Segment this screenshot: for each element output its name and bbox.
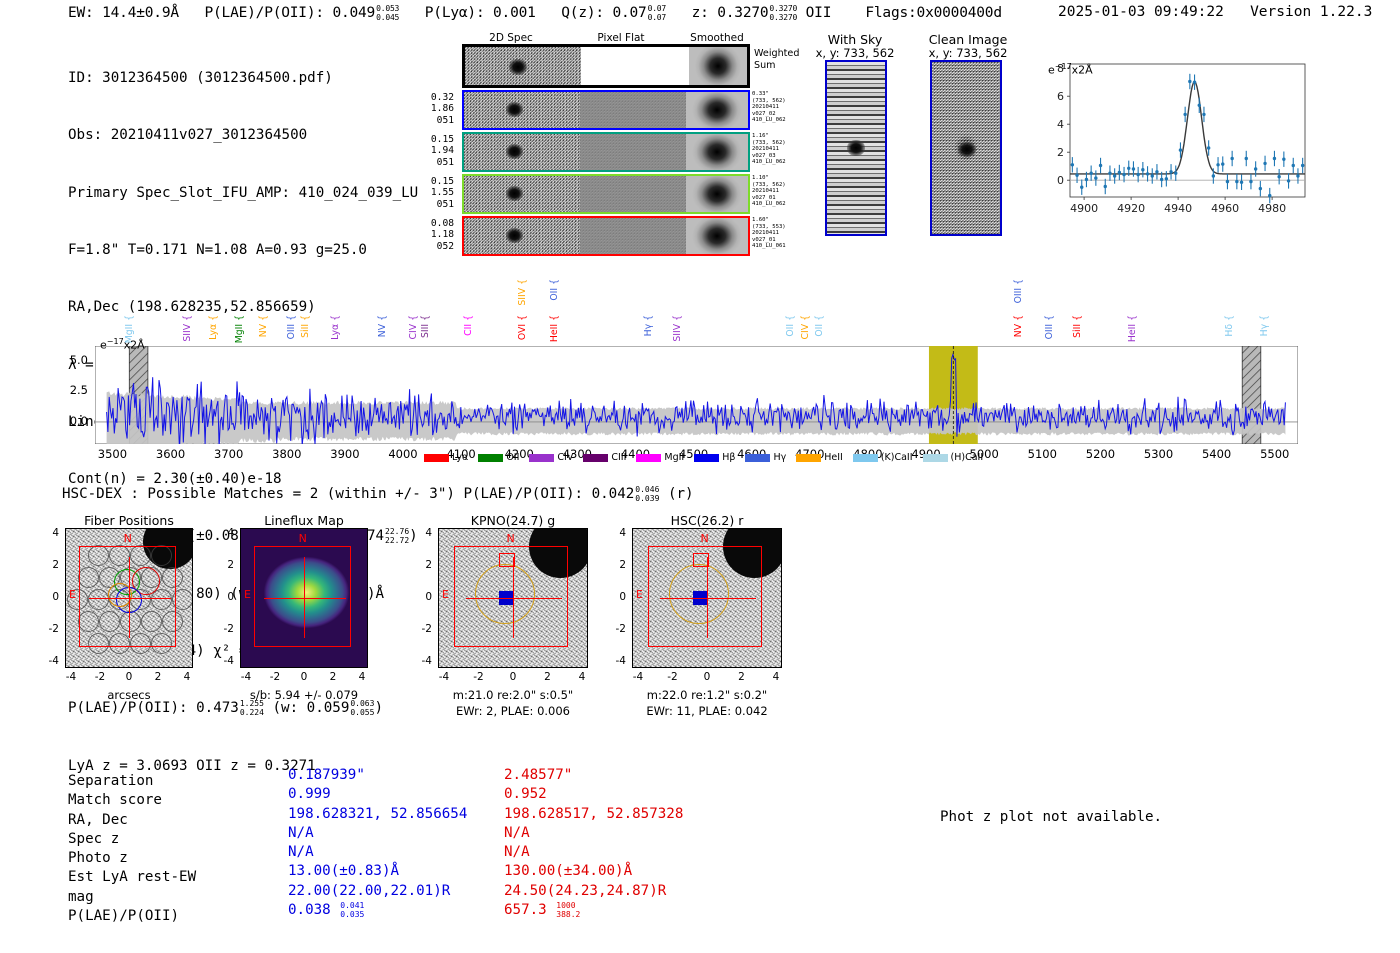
match1-value-6: 22.00(22.00,22.01)R (288, 882, 450, 901)
spec2d-title-smoothed: Smoothed (672, 32, 762, 44)
spectrum-xtick: 5300 (1133, 447, 1185, 461)
match1-value-4: N/A (288, 843, 314, 862)
svg-text:4900: 4900 (1070, 202, 1098, 215)
spectrum-xtick: 3500 (86, 447, 138, 461)
svg-text:4960: 4960 (1211, 202, 1239, 215)
legend-label: CIV (557, 452, 573, 463)
panel-1-xtick: -2 (259, 671, 291, 683)
emission-label-MgII: MgII { (234, 315, 245, 343)
emission-label-NV: NV { (258, 315, 269, 337)
spec2d-weighted-sum-label: Weighted Sum (754, 48, 799, 71)
panel-2-ytick: 2 (408, 559, 432, 571)
panel-2-xtick: 0 (497, 671, 529, 683)
panel-0-xtick: 2 (142, 671, 174, 683)
match2-value-3: N/A (504, 824, 530, 843)
legend-item-HeII: HeII (796, 452, 843, 463)
emission-label-SIIV: SIIV { (182, 315, 193, 342)
svg-text:2: 2 (1057, 146, 1064, 159)
match1-value-0: 0.187939" (288, 766, 365, 785)
match-label-6: mag (68, 888, 94, 907)
legend-label: Hγ (773, 452, 786, 463)
panel-0-xtick: 4 (171, 671, 203, 683)
legend-item-CIII: CIII (583, 452, 626, 463)
match2-value-4: N/A (504, 843, 530, 862)
spec2d-row-0-strip[interactable] (462, 90, 750, 130)
match1-value-5: 13.00(±0.83)Å (288, 862, 399, 881)
svg-text:4980: 4980 (1258, 202, 1286, 215)
legend-swatch (424, 454, 449, 462)
legend-item-Ly: Lyα (424, 452, 468, 463)
header-z-type: OII (806, 5, 832, 21)
spectrum-xtick: 5500 (1249, 447, 1301, 461)
spec2d-row-2-strip[interactable] (462, 174, 750, 214)
header-summary-line: EW: 14.4±0.9Å P(LAE)/P(OII): 0.0490.0530… (68, 4, 1002, 22)
emission-label-OII: OII { (785, 315, 796, 337)
legend-label: (H)CaII (951, 452, 984, 463)
match-label-0: Separation (68, 772, 153, 791)
cutout-title-with-sky: With Sky (800, 32, 910, 47)
emission-label-HeII: HeII { (1127, 315, 1138, 342)
panel-title-1: Lineflux Map (216, 513, 392, 528)
spec2d-row-0-left-values: 0.321.86051 (418, 92, 454, 126)
cutout-coords-with-sky: x, y: 733, 562 (800, 46, 910, 60)
legend-label: Lyα (452, 452, 468, 463)
header-plae-value: 0.049 (332, 5, 375, 21)
emission-label-SIII: SIII { (420, 315, 431, 338)
emission-label-Ly: Lyα { (208, 315, 219, 340)
header-flags: Flags:0x0000400d (865, 5, 1001, 21)
legend-swatch (745, 454, 770, 462)
spectrum-ytick: 2.5 (56, 383, 88, 397)
spectrum-xtick: 3700 (203, 447, 255, 461)
spec2d-title-2dspec: 2D Spec (466, 32, 556, 44)
info-plae: P(LAE)/P(OII): 0.4731.2550.224 (w: 0.059… (68, 699, 418, 718)
match2-value-0: 2.48577" (504, 766, 572, 785)
match2-value-5: 130.00(±34.00)Å (504, 862, 632, 881)
svg-text:4920: 4920 (1117, 202, 1145, 215)
panel-3-caption-1: m:22.0 re:1.2" s:0.2" (592, 688, 822, 702)
emission-label-CIV: CIV { (800, 315, 811, 339)
legend-swatch (478, 454, 503, 462)
match-label-5: Est LyA rest-EW (68, 868, 196, 887)
legend-label: Hβ (722, 452, 735, 463)
panel-0-xtick: -4 (55, 671, 87, 683)
panel-1-ytick: -4 (210, 655, 234, 667)
cutout-with-sky-image[interactable] (825, 60, 887, 236)
emission-label-SIIV: SIIV { (672, 315, 683, 342)
legend-label: OII (506, 452, 519, 463)
spec2d-row-3-meta: 1.60"(733, 553)20210411v027_01410_LU_061 (752, 217, 786, 250)
panel-title-2: KPNO(24.7) g (414, 513, 612, 528)
header-plae-lo: 0.045 (376, 13, 399, 22)
info-plae-pre: P(LAE)/P(OII): 0.473 (68, 700, 239, 716)
info-plae-lo: 0.224 (240, 708, 264, 717)
header-ew: EW: 14.4±0.9Å (68, 5, 179, 21)
panel-title-0: Fiber Positions (41, 513, 217, 528)
header-z-hi: 0.3270 (769, 4, 797, 13)
full-spectrum-plot (95, 346, 1298, 444)
panel-1-ytick: -2 (210, 623, 234, 635)
emission-label-CII: CII { (463, 315, 474, 336)
panel-2-ytick: -4 (408, 655, 432, 667)
line-fit-plot: 0246849004920494049604980 (1036, 58, 1311, 223)
panel-image-1[interactable]: NE (240, 528, 368, 668)
spectrum-ytick: 0.0 (56, 414, 88, 428)
emission-label-OIII: OIII { (1044, 315, 1055, 339)
panel-3-xtick: 0 (691, 671, 723, 683)
panel-0-xtick: 0 (113, 671, 145, 683)
spec2d-row-2-meta: 1.10"(733, 562)20210411v027_01410_LU_062 (752, 175, 786, 208)
line-fit-ylabel: e−17x2Å (1048, 62, 1093, 77)
panel-0-ytick: 0 (35, 591, 59, 603)
match2-value-1: 0.952 (504, 785, 547, 804)
legend-swatch (583, 454, 608, 462)
panel-2-ytick: 0 (408, 591, 432, 603)
info-cont-w-lo: 22.72 (385, 536, 409, 545)
match-label-4: Photo z (68, 849, 128, 868)
svg-text:4940: 4940 (1164, 202, 1192, 215)
header-qz-label: Q(z): 0.07 (561, 5, 646, 21)
spec2d-row-3-left-values: 0.081.18052 (418, 218, 454, 252)
spectrum-legend: LyαOIICIVCIIIMgIIHβHγHeII(K)CaII(H)CaII (424, 452, 983, 463)
legend-item-H: Hγ (745, 452, 786, 463)
legend-swatch (529, 454, 554, 462)
spec2d-row-1-left-values: 0.151.94051 (418, 134, 454, 168)
panel-2-xtick: -4 (428, 671, 460, 683)
photz-note: Phot z plot not available. (940, 809, 1162, 825)
emission-label-OIII: OIII { (286, 315, 297, 339)
svg-text:4: 4 (1057, 118, 1064, 131)
panel-3-xtick: -2 (657, 671, 689, 683)
header-plae-hi: 0.053 (376, 4, 399, 13)
panel-2-ytick: 4 (408, 527, 432, 539)
info-seeing: F=1.8" T=0.171 N=1.08 A=0.93 g=25.0 (68, 241, 418, 260)
header-plya: P(Lyα): 0.001 (425, 5, 536, 21)
spec2d-row-0-meta: 0.33"(733, 562)20210411v027_02410_LU_062 (752, 91, 786, 124)
legend-swatch (694, 454, 719, 462)
cutout-title-clean-image: Clean Image (908, 32, 1028, 47)
match1-value-3: N/A (288, 824, 314, 843)
header-qz-lo: 0.07 (648, 13, 666, 22)
emission-label-OIII: OIII { (1013, 279, 1024, 303)
legend-label: HeII (824, 452, 843, 463)
emission-label-OII: OII { (814, 315, 825, 337)
panel-2-xtick: -2 (463, 671, 495, 683)
panel-image-0[interactable]: NE (65, 528, 193, 668)
panel-image-3[interactable]: NE (632, 528, 782, 668)
hsc-dex-post: (r) (668, 486, 694, 502)
legend-swatch (796, 454, 821, 462)
emission-label-OVI: OVI { (517, 315, 528, 340)
info-cont-w-hi: 22.76 (385, 527, 409, 536)
panel-image-2[interactable]: NE (438, 528, 588, 668)
panel-1-xtick: 2 (317, 671, 349, 683)
match2-value-6: 24.50(24.23,24.87)R (504, 882, 666, 901)
spectrum-xtick: 3600 (145, 447, 197, 461)
panel-3-ytick: 2 (602, 559, 626, 571)
panel-0-xtick: -2 (84, 671, 116, 683)
header-z-lo: 0.3270 (769, 13, 797, 22)
spectrum-xtick: 4000 (377, 447, 429, 461)
emission-label-Ly: Lyα { (330, 315, 341, 340)
line-fit-svg: 0246849004920494049604980 (1036, 58, 1311, 223)
spectrum-xtick: 5400 (1191, 447, 1243, 461)
info-plae-post: ) (374, 700, 383, 716)
spectrum-xtick: 3900 (319, 447, 371, 461)
hsc-dex-pre: HSC-DEX : Possible Matches = 2 (within +… (62, 486, 634, 502)
emission-label-SiII: SiII { (1072, 315, 1083, 338)
panel-3-ytick: 0 (602, 591, 626, 603)
legend-swatch (636, 454, 661, 462)
panel-3-caption-2: EWr: 11, PLAE: 0.042 (592, 704, 822, 718)
panel-1-ytick: 4 (210, 527, 234, 539)
emission-label-HeII: HeII { (549, 315, 560, 342)
match1-value-1: 0.999 (288, 785, 331, 804)
emission-label-NV: NV { (377, 315, 388, 337)
emission-label-NV: NV { (1013, 315, 1024, 337)
emission-label-OII: OII { (549, 279, 560, 301)
panel-3-ytick: 4 (602, 527, 626, 539)
panel-2-ytick: -2 (408, 623, 432, 635)
spectrum-ytick: 5.0 (56, 353, 88, 367)
panel-3-xtick: 2 (726, 671, 758, 683)
panel-1-xtick: 0 (288, 671, 320, 683)
panel-1-caption-1: s/b: 5.94 +/- 0.079 (200, 688, 408, 702)
emission-label-H: Hγ { (643, 315, 654, 336)
legend-item-MgII: MgII (636, 452, 684, 463)
panel-3-xtick: 4 (760, 671, 792, 683)
emission-label-H: Hδ { (1224, 315, 1235, 337)
header-timestamp: 2025-01-03 09:49:22 (1058, 4, 1224, 20)
svg-text:0: 0 (1057, 174, 1064, 187)
legend-label: MgII (664, 452, 684, 463)
info-id: ID: 3012364500 (3012364500.pdf) (68, 69, 418, 88)
panel-0-ytick: -4 (35, 655, 59, 667)
match-label-1: Match score (68, 791, 162, 810)
header-version: Version 1.22.3 (1250, 4, 1372, 20)
info-primary: Primary Spec_Slot_IFU_AMP: 410_024_039_L… (68, 184, 418, 203)
spec2d-row-3-strip[interactable] (462, 216, 750, 256)
spec2d-title-pixelflat: Pixel Flat (576, 32, 666, 44)
cutout-clean-image[interactable] (930, 60, 1002, 236)
panel-1-xtick: 4 (346, 671, 378, 683)
spectrum-xtick: 5200 (1074, 447, 1126, 461)
spec2d-weighted-sum-row (462, 44, 750, 88)
legend-item-OII: OII (478, 452, 519, 463)
match2-value-7: 657.3 1000388.2 (504, 901, 580, 920)
legend-swatch (853, 454, 878, 462)
hsc-dex-lo: 0.039 (635, 494, 659, 503)
legend-label: (K)CaII (881, 452, 913, 463)
panel-1-ytick: 2 (210, 559, 234, 571)
cutout-coords-clean-image: x, y: 733, 562 (908, 46, 1028, 60)
header-plae-label: P(LAE)/P(OII): (204, 5, 323, 21)
emission-label-SIIV: SIIV { (517, 279, 528, 306)
spectrum-xtick: 3800 (261, 447, 313, 461)
panel-3-xtick: -4 (622, 671, 654, 683)
legend-item-H: Hβ (694, 452, 735, 463)
header-qz-hi: 0.07 (648, 4, 666, 13)
header-meta: 2025-01-03 09:49:22 Version 1.22.3 (1058, 4, 1372, 20)
legend-item-CIV: CIV (529, 452, 573, 463)
spectrum-xtick: 5100 (1016, 447, 1068, 461)
match-label-7: P(LAE)/P(OII) (68, 907, 179, 926)
legend-swatch (923, 454, 948, 462)
match1-value-2: 198.628321, 52.856654 (288, 805, 467, 824)
emission-label-H: Hγ { (1259, 315, 1270, 336)
spectrum-ylabel: e−17x2Å (100, 337, 145, 352)
hsc-dex-summary: HSC-DEX : Possible Matches = 2 (within +… (62, 485, 694, 503)
info-obs: Obs: 20210411v027_3012364500 (68, 126, 418, 145)
legend-item-HCaII: (H)CaII (923, 452, 984, 463)
header-z-label: z: 0.3270 (692, 5, 769, 21)
spec2d-row-2-left-values: 0.151.55051 (418, 176, 454, 210)
legend-item-KCaII: (K)CaII (853, 452, 913, 463)
svg-text:6: 6 (1057, 90, 1064, 103)
spec2d-row-1-meta: 1.16"(733, 562)20210411v027_03410_LU_062 (752, 133, 786, 166)
panel-3-ytick: -4 (602, 655, 626, 667)
hsc-dex-hi: 0.046 (635, 485, 659, 494)
panel-2-xtick: 2 (532, 671, 564, 683)
panel-0-ytick: -2 (35, 623, 59, 635)
info-plae-w-lo: 0.055 (350, 708, 374, 717)
full-spectrum-svg (95, 346, 1298, 444)
panel-2-xtick: 4 (566, 671, 598, 683)
match2-value-2: 198.628517, 52.857328 (504, 805, 683, 824)
panel-title-3: HSC(26.2) r (608, 513, 806, 528)
panel-0-ytick: 4 (35, 527, 59, 539)
match-label-2: RA, Dec (68, 811, 128, 830)
emission-label-CIV: CIV { (408, 315, 419, 339)
match-label-3: Spec z (68, 830, 119, 849)
panel-0-ytick: 2 (35, 559, 59, 571)
panel-1-xtick: -4 (230, 671, 262, 683)
panel-3-ytick: -2 (602, 623, 626, 635)
panel-1-ytick: 0 (210, 591, 234, 603)
legend-label: CIII (611, 452, 626, 463)
info-plae-mid: (w: 0.059 (272, 700, 349, 716)
spec2d-row-1-strip[interactable] (462, 132, 750, 172)
emission-label-SiII: SiII { (300, 315, 311, 338)
match1-value-7: 0.038 0.0410.035 (288, 901, 364, 920)
